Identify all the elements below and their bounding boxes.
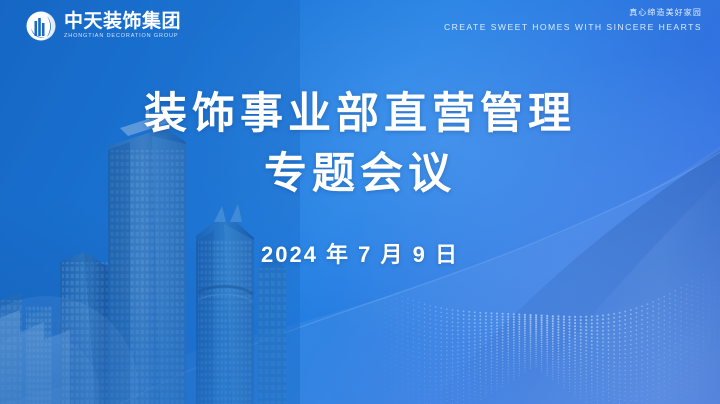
meeting-title-line-1: 装饰事业部直营管理 <box>0 86 720 143</box>
slogan-english: CREATE SWEET HOMES WITH SINCERE HEARTS <box>444 22 702 32</box>
company-slogan: 真心缔造美好家园 CREATE SWEET HOMES WITH SINCERE… <box>444 8 702 32</box>
meeting-title-line-2: 专题会议 <box>0 146 720 203</box>
meeting-date: 2024 年 7 月 9 日 <box>0 237 720 269</box>
presentation-title-slide: 中天装饰集团 ZHONGTIAN DECORATION GROUP 真心缔造美好… <box>0 0 720 404</box>
company-logo: 中天装饰集团 ZHONGTIAN DECORATION GROUP <box>25 10 181 42</box>
zhongtian-building-emblem-icon <box>25 10 57 42</box>
logo-english-name: ZHONGTIAN DECORATION GROUP <box>64 34 183 39</box>
logo-chinese-name: 中天装饰集团 <box>64 12 181 31</box>
slogan-chinese: 真心缔造美好家园 <box>444 8 702 18</box>
slide-header: 中天装饰集团 ZHONGTIAN DECORATION GROUP 真心缔造美好… <box>0 0 720 52</box>
logo-wordmark: 中天装饰集团 ZHONGTIAN DECORATION GROUP <box>64 12 181 39</box>
slide-title-block: 装饰事业部直营管理 专题会议 2024 年 7 月 9 日 <box>0 86 720 269</box>
